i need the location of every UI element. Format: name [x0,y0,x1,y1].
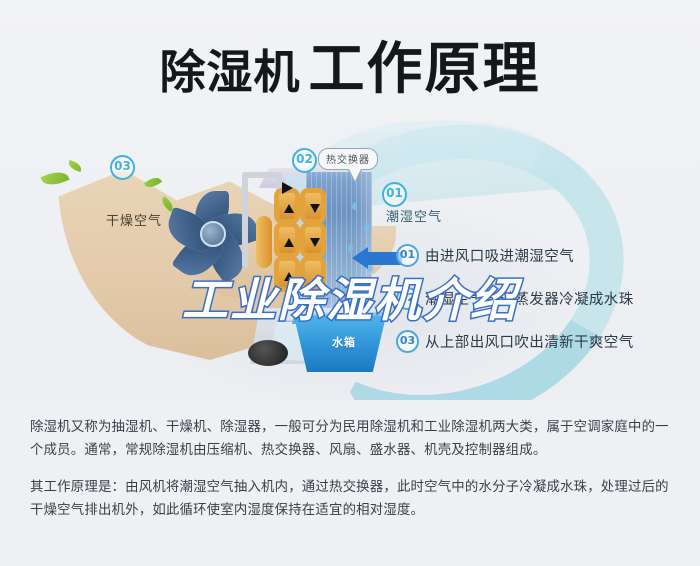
badge-02-heat-exchanger: 02 [292,148,317,173]
step-text: 从上部出风口吹出清新干爽空气 [425,331,634,352]
fan-hub [200,221,226,247]
paragraph-1: 除湿机又称为抽湿机、干燥机、除湿器，一般可分为民用除湿机和工业除湿机两大类，属于… [30,416,674,462]
leaf-icon [67,160,83,172]
leaf-icon [41,168,70,190]
dry-air-label: 干燥空气 [106,210,162,229]
step-text: 由进风口吸进潮湿空气 [425,245,574,266]
watermark-title: 工业除湿机介绍 [0,264,700,330]
illustration-panel: 水箱 03 02 01 热交换器 干燥空气 潮湿空气 01 由进风口吸进潮湿空气… [0,0,700,400]
body-copy: 除湿机又称为抽湿机、干燥机、除湿器，一般可分为民用除湿机和工业除湿机两大类，属于… [30,416,674,531]
paragraph-2: 其工作原理是：由风机将潮湿空气抽入机内，通过热交换器，此时空气中的水分子冷凝成水… [30,476,674,522]
badge-01-humid-air: 01 [382,182,407,207]
page-title-part1: 除湿机 [160,45,301,99]
heat-exchanger-callout: 热交换器 [318,148,378,170]
humid-air-label: 潮湿空气 [386,206,442,225]
step-number: 03 [396,330,419,353]
list-item: 03 从上部出风口吹出清新干爽空气 [396,330,696,353]
water-tank-label: 水箱 [314,334,374,350]
page-title: 除湿机工作原理 [0,24,700,105]
page-title-part2: 工作原理 [309,37,541,102]
badge-03-dry-air: 03 [110,155,135,180]
machine-wheel [248,340,288,366]
infographic-page: 水箱 03 02 01 热交换器 干燥空气 潮湿空气 01 由进风口吸进潮湿空气… [0,0,700,566]
